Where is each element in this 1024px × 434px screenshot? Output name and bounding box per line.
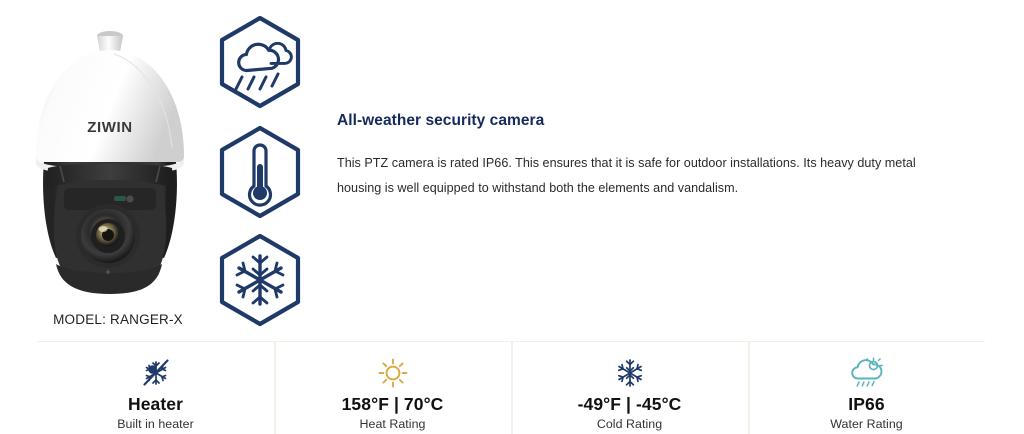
- snowflake-icon: [613, 355, 647, 391]
- product-feature-panel: ZIWIN: [0, 0, 1024, 434]
- hero-section: ZIWIN: [0, 0, 1024, 340]
- sun-cloud-rain-icon: [849, 355, 885, 391]
- spec-value: -49°F | -45°C: [578, 394, 682, 414]
- spec-cell-water-rating: IP66 Water Rating: [748, 342, 985, 434]
- spec-value: 158°F | 70°C: [342, 394, 444, 414]
- model-label: MODEL: RANGER-X: [18, 312, 218, 327]
- spec-caption: Water Rating: [830, 417, 902, 431]
- spec-value: Heater: [128, 394, 183, 414]
- hex-badge-temperature: [214, 124, 306, 220]
- ptz-dome-camera-image: ZIWIN: [18, 16, 218, 296]
- no-freeze-snowflake-icon: [139, 355, 173, 391]
- spec-value: IP66: [848, 394, 884, 414]
- spec-caption: Heat Rating: [360, 417, 426, 431]
- spec-cell-heat-rating: 158°F | 70°C Heat Rating: [274, 342, 511, 434]
- sun-icon: [376, 355, 410, 391]
- svg-text:ZIWIN: ZIWIN: [87, 119, 133, 136]
- section-heading: All-weather security camera: [337, 112, 957, 130]
- rain-cloud-icon: [214, 14, 306, 110]
- spec-strip: Heater Built in heater: [37, 341, 985, 434]
- thermometer-icon: [214, 124, 306, 220]
- product-image-block: ZIWIN: [18, 16, 218, 326]
- spec-caption: Built in heater: [117, 417, 194, 431]
- copy-block: All-weather security camera This PTZ cam…: [337, 112, 957, 201]
- section-body-text: This PTZ camera is rated IP66. This ensu…: [337, 151, 947, 201]
- spec-cell-heater: Heater Built in heater: [37, 342, 274, 434]
- spec-caption: Cold Rating: [597, 417, 662, 431]
- feature-icon-column: [214, 12, 310, 332]
- hex-badge-snowflake: [214, 232, 306, 328]
- hex-badge-rain: [214, 14, 306, 110]
- snowflake-icon: [214, 232, 306, 328]
- spec-cell-cold-rating: -49°F | -45°C Cold Rating: [511, 342, 748, 434]
